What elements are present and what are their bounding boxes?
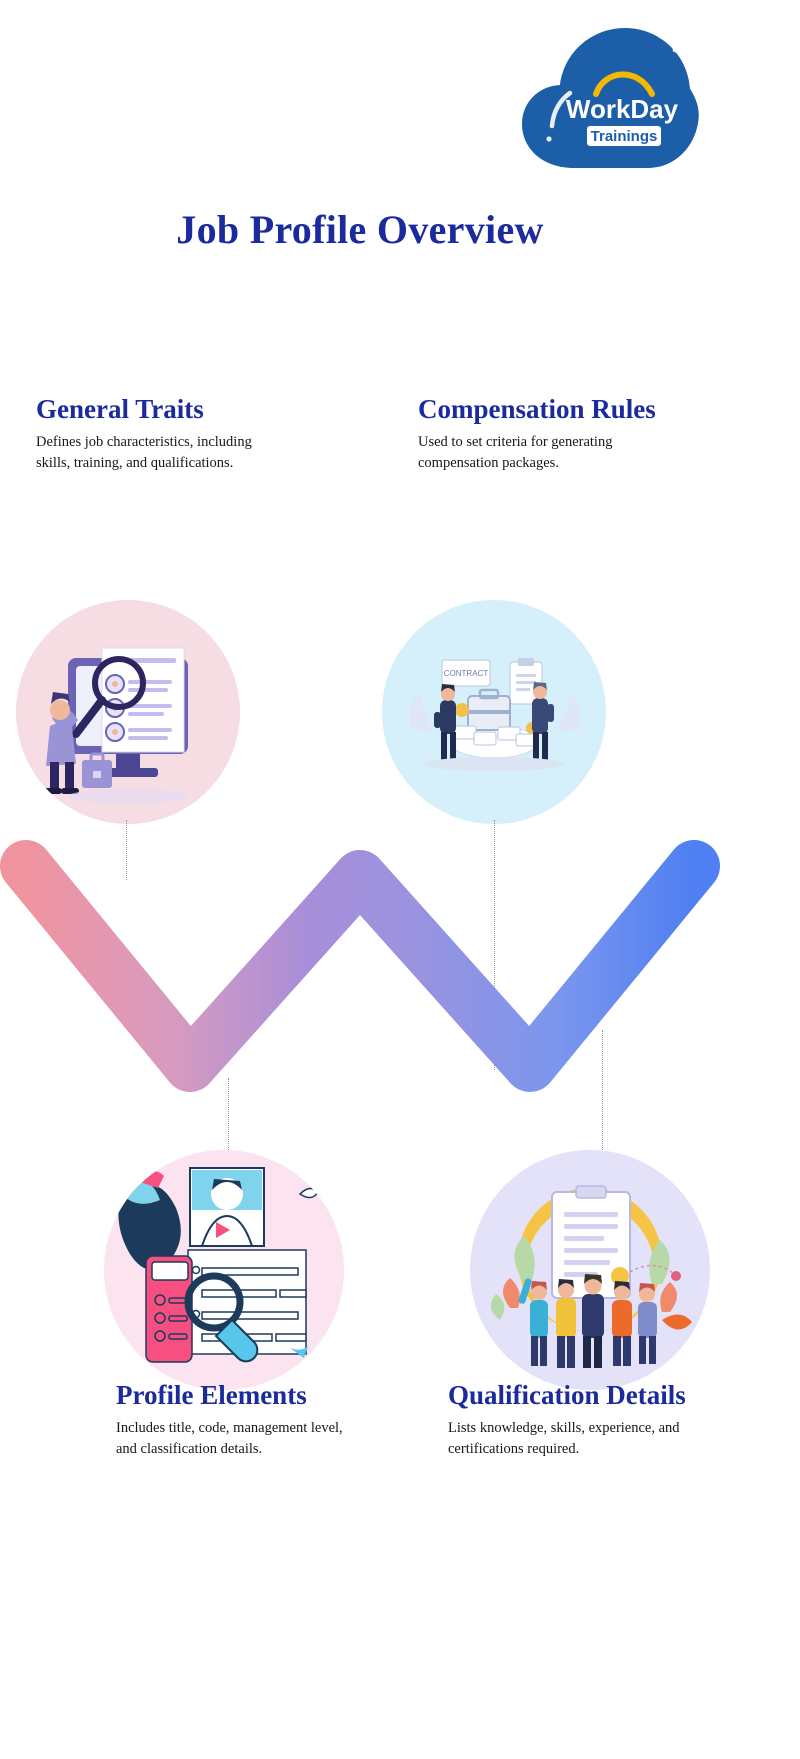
person-3 bbox=[582, 1274, 604, 1368]
person-4 bbox=[612, 1281, 632, 1366]
section-heading: Qualification Details bbox=[448, 1380, 698, 1412]
person-left bbox=[434, 684, 456, 760]
workday-trainings-logo: WorkDay Trainings bbox=[512, 8, 702, 178]
zigzag-ribbon-graphic bbox=[0, 840, 720, 1100]
person-1 bbox=[518, 1278, 548, 1366]
section-profile-elements: Profile Elements Includes title, code, m… bbox=[116, 1380, 346, 1460]
section-heading: Compensation Rules bbox=[418, 394, 663, 426]
person-5 bbox=[638, 1283, 657, 1364]
logo-brand-secondary: Trainings bbox=[591, 128, 658, 145]
section-body: Lists knowledge, skills, experience, and… bbox=[448, 1418, 698, 1460]
section-body: Includes title, code, management level, … bbox=[116, 1418, 346, 1460]
infographic-canvas: WorkDay Trainings Job Profile Overview G… bbox=[0, 0, 800, 1759]
page-title: Job Profile Overview bbox=[0, 206, 720, 253]
illustration-compensation-rules: CONTRACT bbox=[382, 600, 606, 824]
svg-text:CONTRACT: CONTRACT bbox=[444, 669, 489, 678]
section-heading: Profile Elements bbox=[116, 1380, 346, 1412]
section-general-traits: General Traits Defines job characteristi… bbox=[36, 394, 276, 474]
section-heading: General Traits bbox=[36, 394, 276, 426]
illustration-general-traits bbox=[16, 600, 240, 824]
section-compensation-rules: Compensation Rules Used to set criteria … bbox=[418, 394, 663, 474]
person-right bbox=[532, 682, 554, 760]
person-2 bbox=[556, 1279, 576, 1368]
illustration-profile-elements bbox=[104, 1150, 344, 1390]
section-qualification-details: Qualification Details Lists knowledge, s… bbox=[448, 1380, 698, 1460]
section-body: Used to set criteria for generating comp… bbox=[418, 432, 663, 474]
illustration-qualification-details bbox=[470, 1150, 710, 1390]
logo-brand-primary: WorkDay bbox=[566, 94, 679, 124]
section-body: Defines job characteristics, including s… bbox=[36, 432, 276, 474]
